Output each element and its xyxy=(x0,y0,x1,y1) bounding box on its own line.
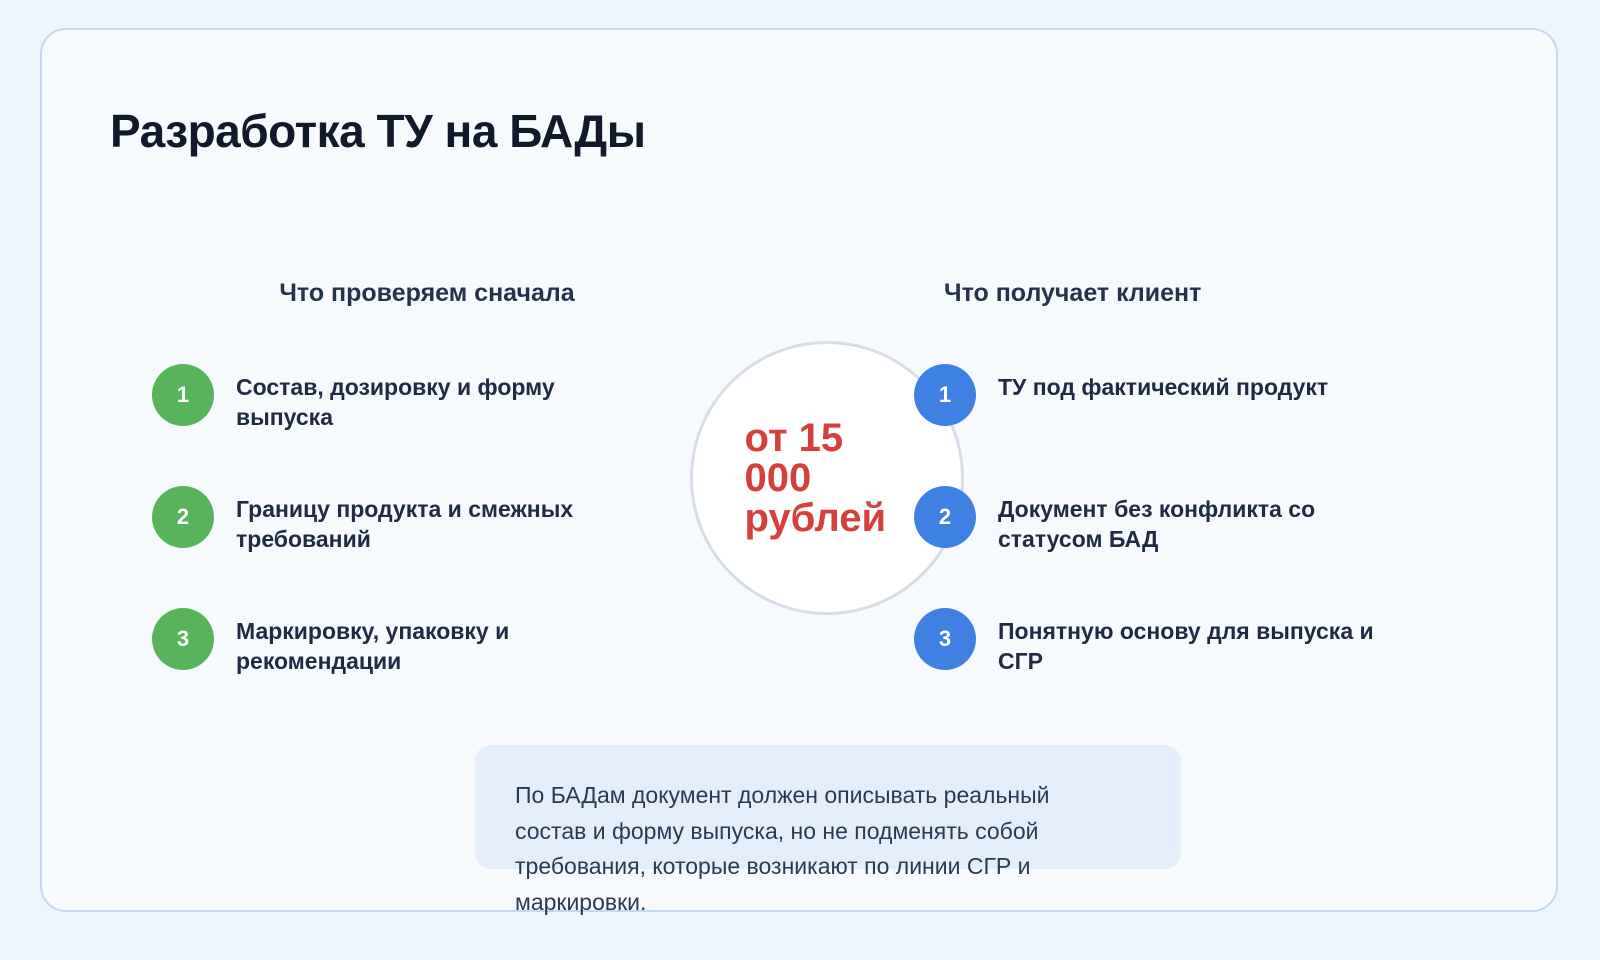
column-header-left: Что проверяем сначала xyxy=(152,278,712,308)
list-item: 2 Документ без конфликта со статусом БАД xyxy=(914,484,1474,555)
list-item: 1 Состав, дозировку и форму выпуска xyxy=(152,362,712,433)
slide-card: Разработка ТУ на БАДы Что проверяем снач… xyxy=(40,28,1558,912)
list-item-label: Документ без конфликта со статусом БАД xyxy=(998,484,1418,555)
list-item: 3 Маркировку, упаковку и рекомендации xyxy=(152,606,712,677)
column-what-client-gets: Что получает клиент 1 ТУ под фактический… xyxy=(914,278,1474,308)
step-number-badge: 2 xyxy=(914,486,976,548)
list-item-label: Маркировку, упаковку и рекомендации xyxy=(236,606,636,677)
list-item: 2 Границу продукта и смежных требований xyxy=(152,484,712,555)
step-number-badge: 1 xyxy=(152,364,214,426)
list-item: 3 Понятную основу для выпуска и СГР xyxy=(914,606,1474,677)
step-number-badge: 3 xyxy=(914,608,976,670)
price-value: от 15 000 рублей xyxy=(745,418,910,538)
list-item-label: ТУ под фактический продукт xyxy=(998,362,1328,402)
page-title: Разработка ТУ на БАДы xyxy=(110,102,750,161)
note-text: По БАДам документ должен описывать реаль… xyxy=(515,778,1115,921)
list-item-label: Понятную основу для выпуска и СГР xyxy=(998,606,1418,677)
list-item-label: Состав, дозировку и форму выпуска xyxy=(236,362,636,433)
column-header-right: Что получает клиент xyxy=(914,278,1474,308)
list-item: 1 ТУ под фактический продукт xyxy=(914,362,1474,426)
step-number-badge: 2 xyxy=(152,486,214,548)
step-number-badge: 1 xyxy=(914,364,976,426)
step-number-badge: 3 xyxy=(152,608,214,670)
list-item-label: Границу продукта и смежных требований xyxy=(236,484,636,555)
column-what-we-check: Что проверяем сначала 1 Состав, дозировк… xyxy=(152,278,712,308)
